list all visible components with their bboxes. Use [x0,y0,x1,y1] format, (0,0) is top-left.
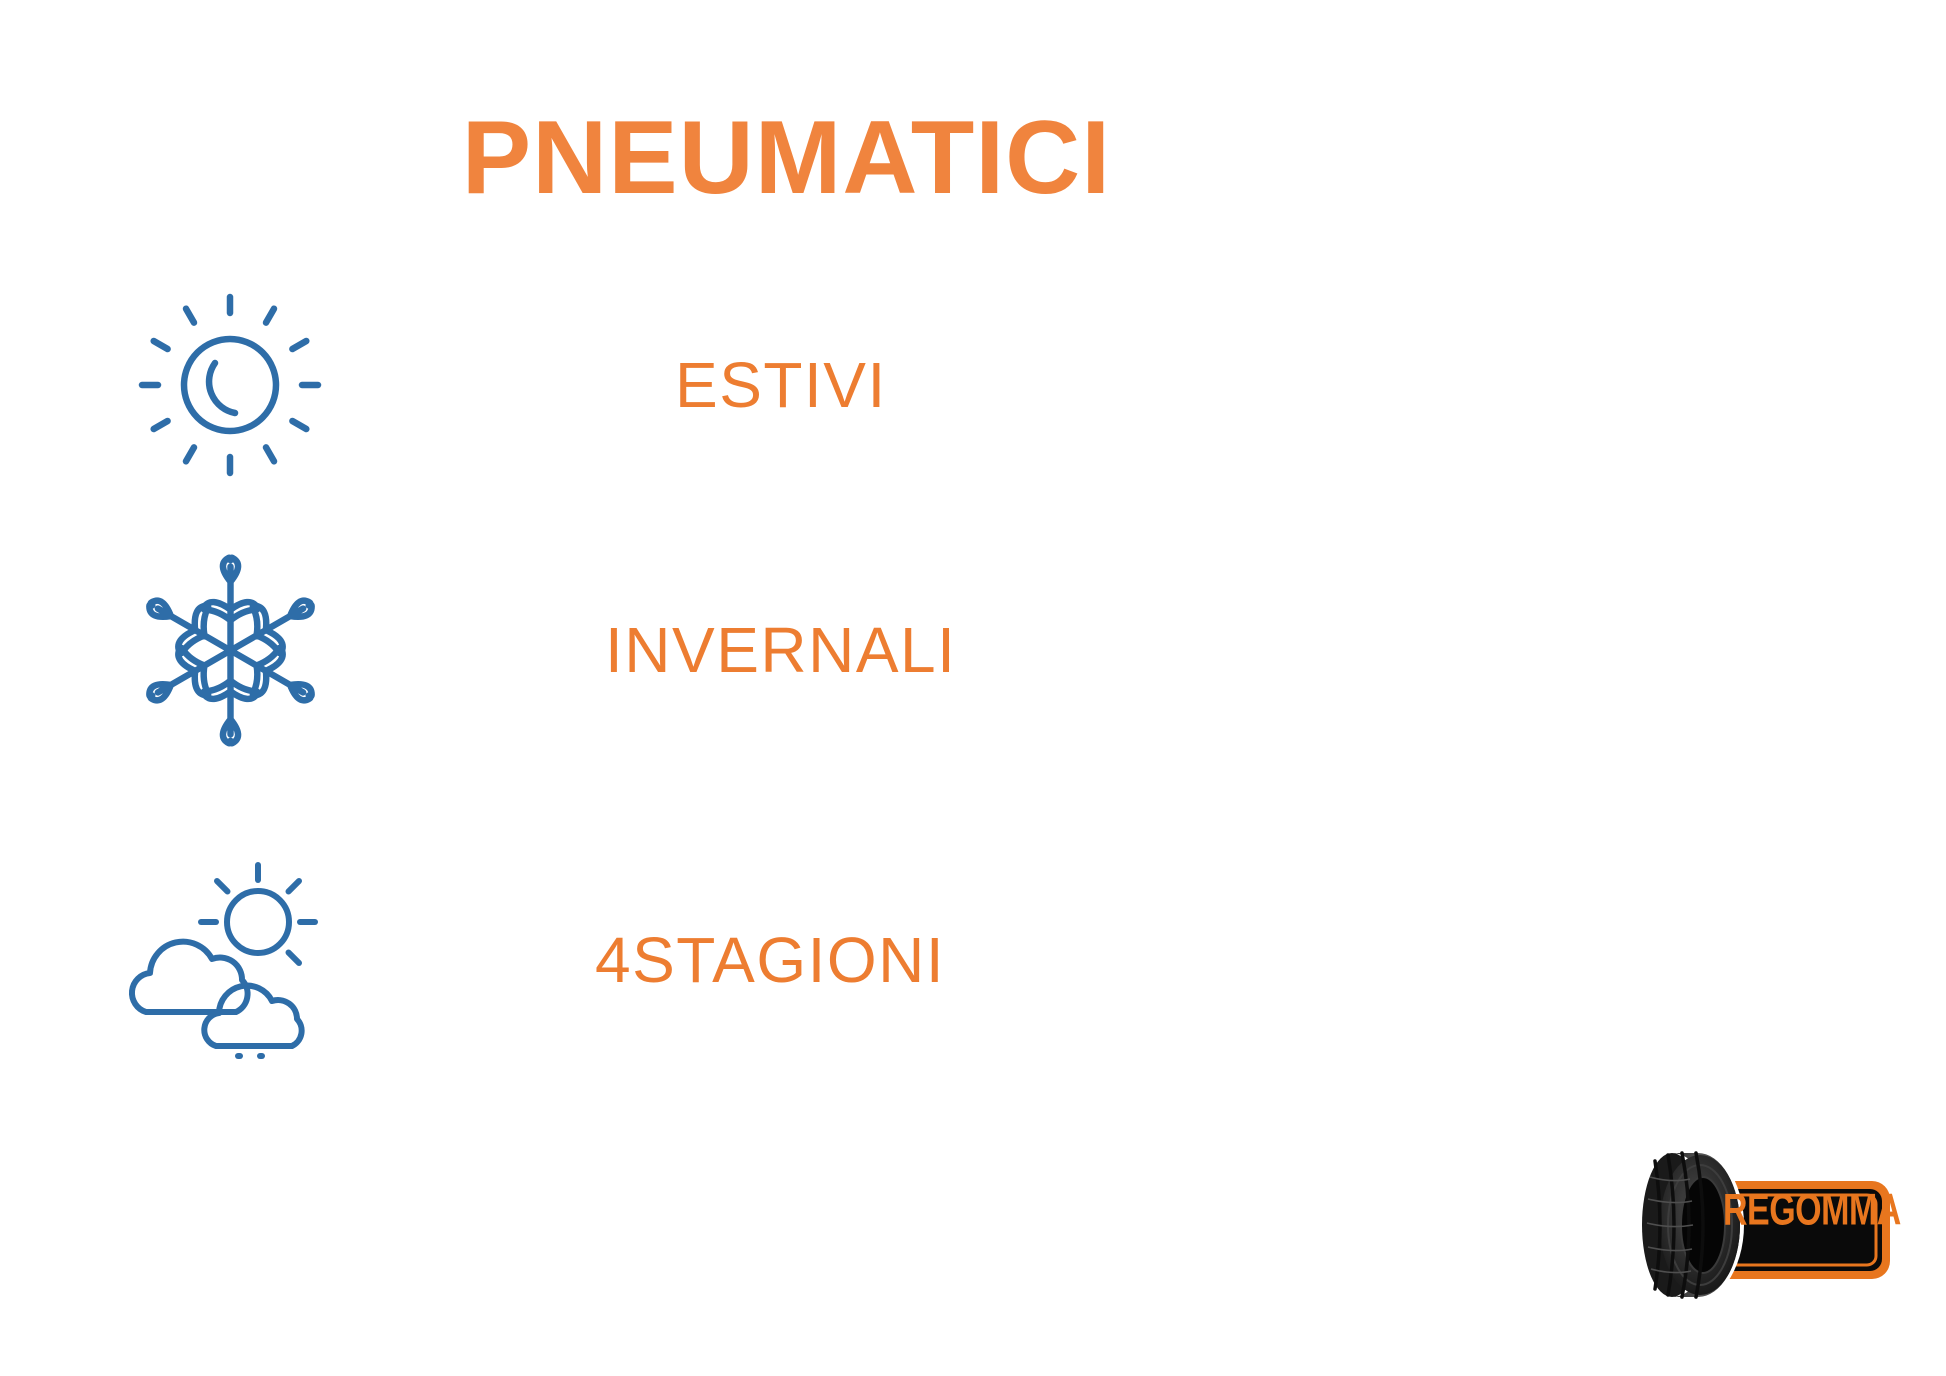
regomma-logo-graphic [1610,1115,1900,1315]
tire-icon [1628,1143,1744,1307]
brand-logo: REGOMMA [1610,1115,1900,1315]
page-title: PNEUMATICI [0,106,1573,210]
tire-type-label-4stagioni: 4STAGIONI [595,923,945,997]
tire-type-row-estivi: ESTIVI [0,270,1300,500]
sun-behind-cloud-icon-slot [0,850,460,1070]
snowflake-icon-slot [0,543,460,758]
sun-icon [130,285,330,485]
tire-type-row-invernali: INVERNALI [0,535,1300,765]
tire-type-label-estivi: ESTIVI [675,348,887,422]
tire-type-row-4stagioni: 4STAGIONI [0,845,1300,1075]
tire-type-label-invernali: INVERNALI [605,613,956,687]
snowflake-icon [123,543,338,758]
sun-icon-slot [0,285,460,485]
sun-behind-cloud-icon [116,860,344,1060]
